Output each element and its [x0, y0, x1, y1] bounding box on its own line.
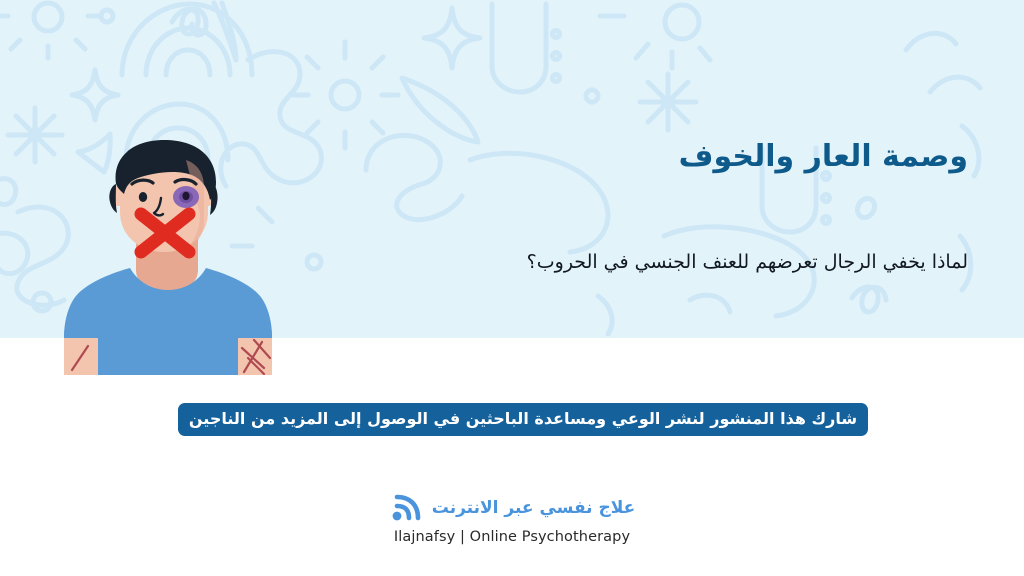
subtitle-question: لماذا يخفي الرجال تعرضهم للعنف الجنسي في…: [408, 248, 968, 277]
bruised-silenced-man-illustration: [58, 140, 278, 375]
brand-logo-row: علاج نفسي عبر الانترنت: [389, 493, 636, 523]
brand-name-english: Ilajnafsy | Online Psychotherapy: [394, 530, 630, 545]
share-cta-banner[interactable]: شارك هذا المنشور لنشر الوعي ومساعدة البا…: [178, 403, 868, 436]
brand-name-arabic: علاج نفسي عبر الانترنت: [432, 500, 636, 517]
footer-brand: علاج نفسي عبر الانترنت Ilajnafsy | Onlin…: [0, 493, 1024, 545]
rss-signal-icon: [389, 493, 423, 523]
share-cta-label: شارك هذا المنشور لنشر الوعي ومساعدة البا…: [189, 411, 857, 429]
page-title: وصمة العار والخوف: [328, 138, 968, 176]
social-post-poster: وصمة العار والخوف لماذا يخفي الرجال تعرض…: [0, 0, 1024, 576]
